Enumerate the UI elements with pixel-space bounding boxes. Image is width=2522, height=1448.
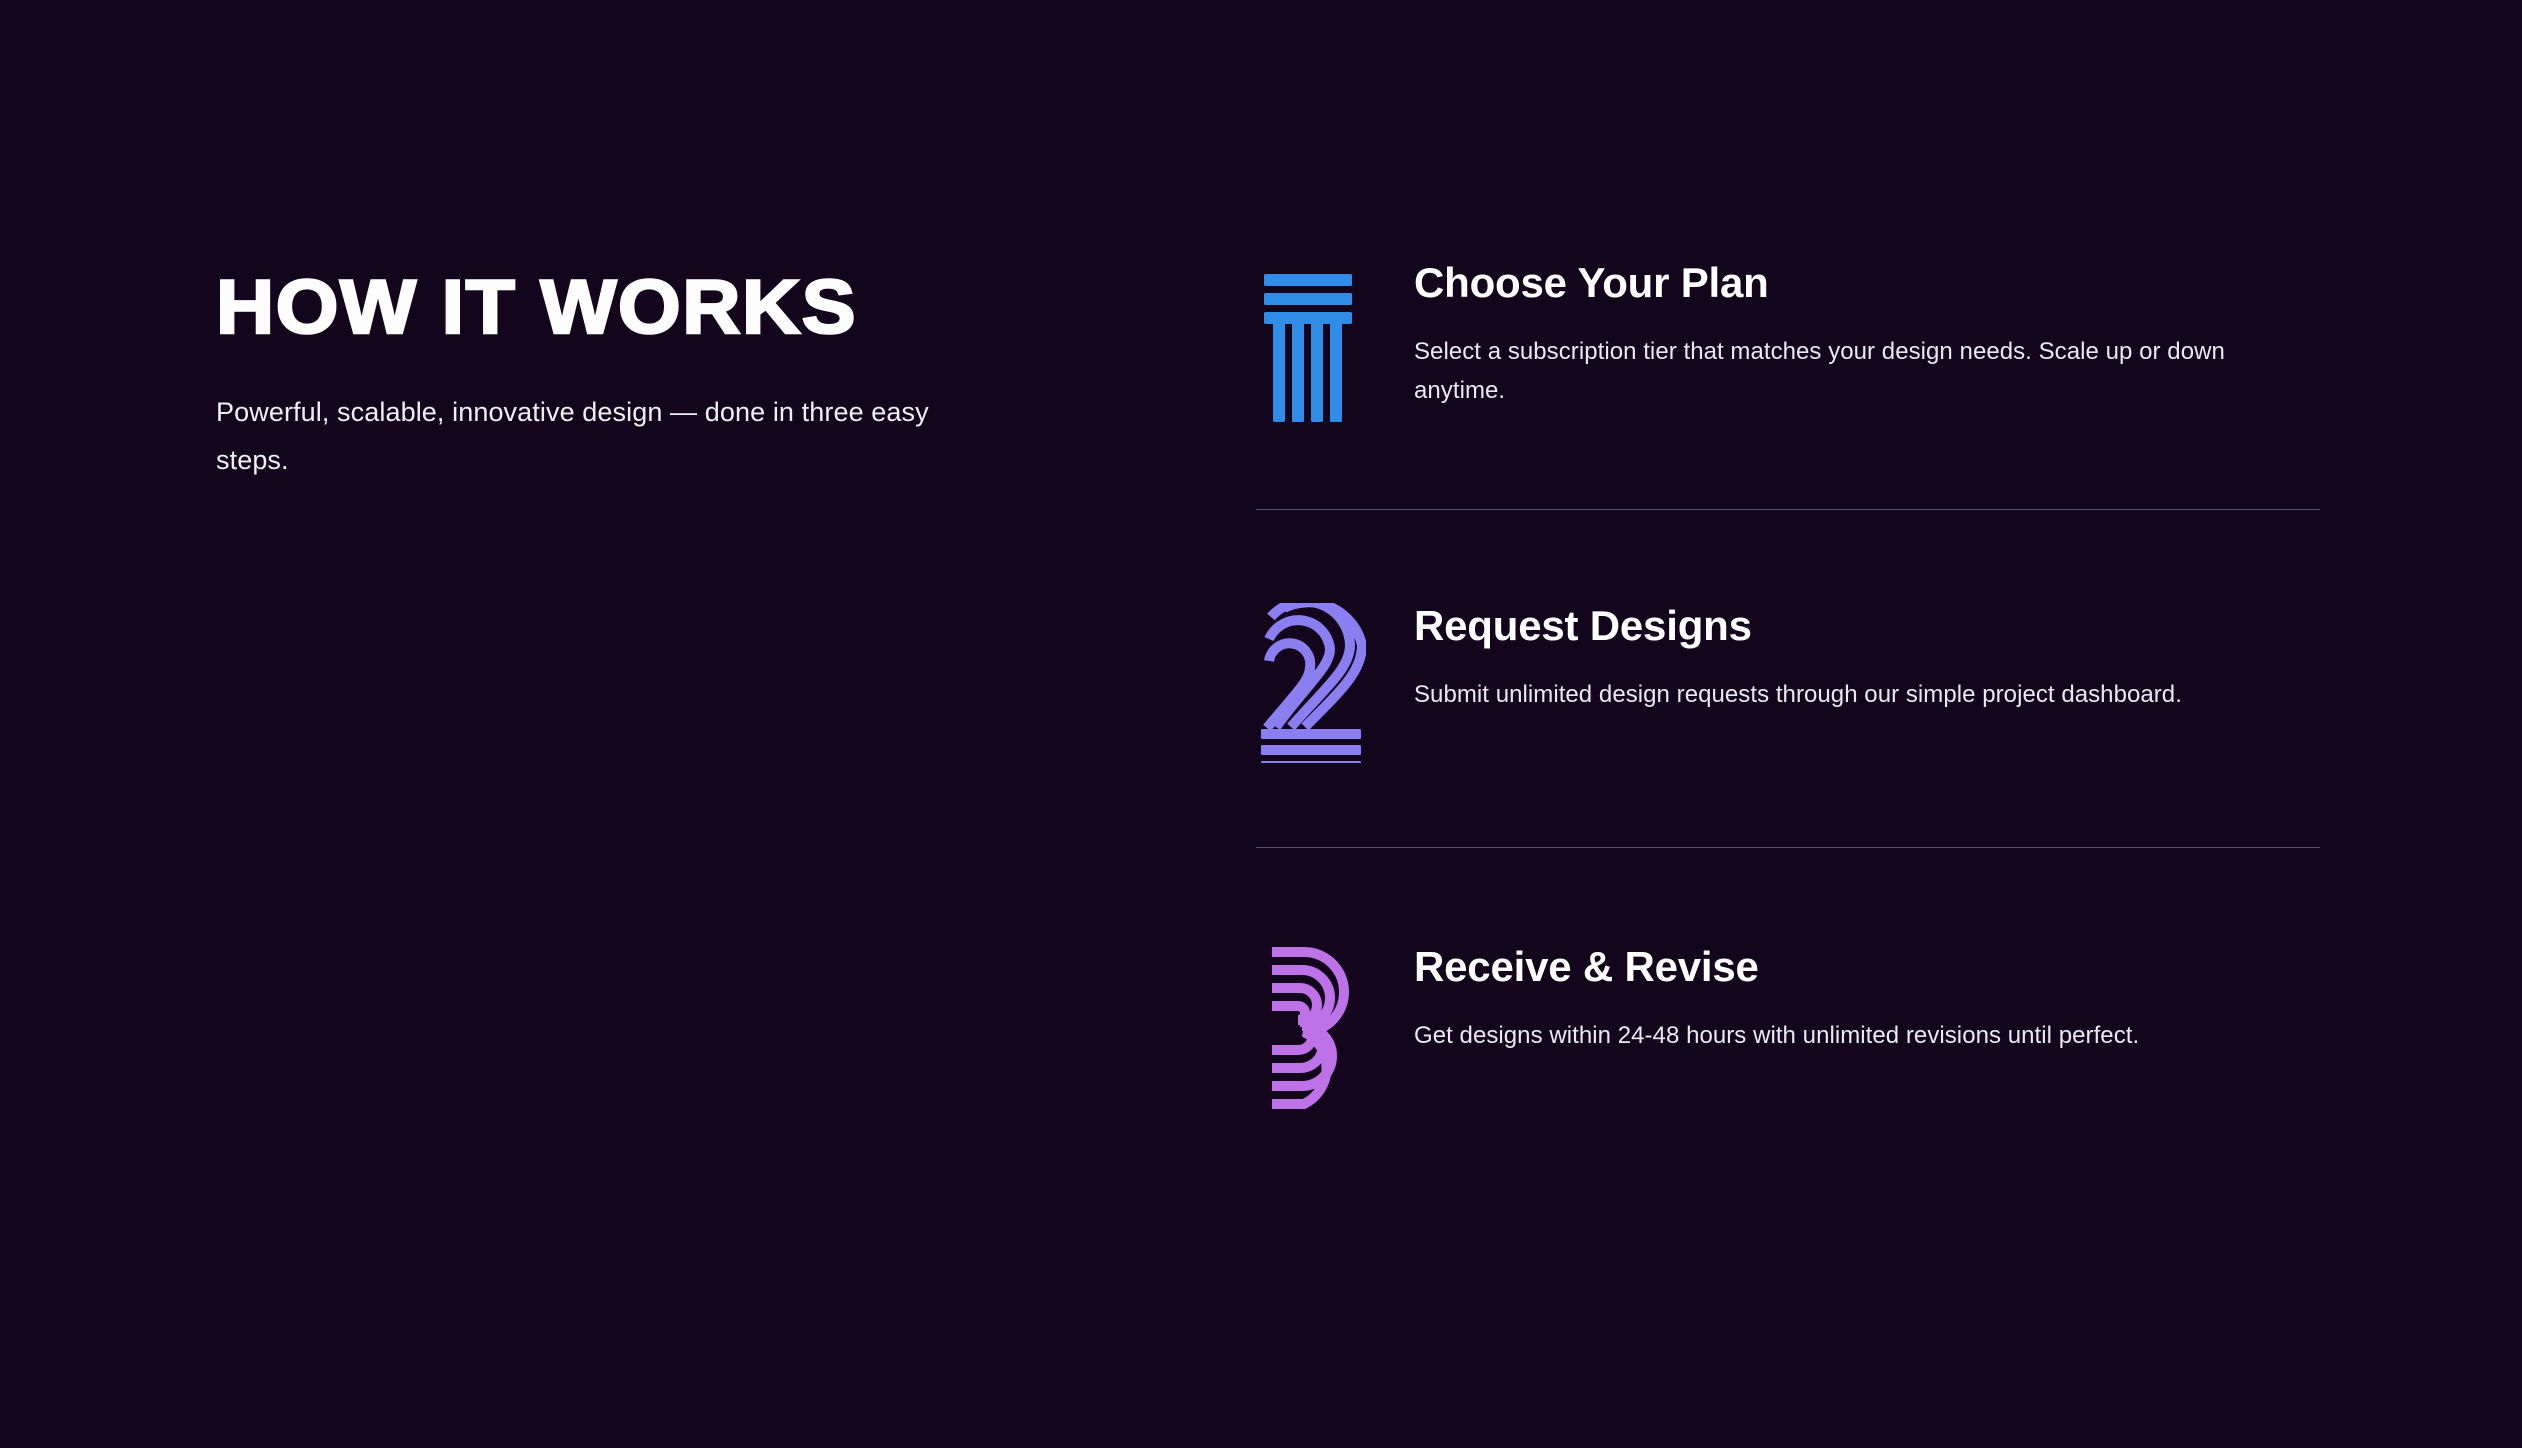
section-intro: HOW IT WORKS Powerful, scalable, innovat…	[216, 272, 1036, 484]
step-item-2[interactable]: Request Designs Submit unlimited design …	[1256, 595, 2320, 767]
number-two-striped-icon	[1256, 603, 1366, 763]
step-item-3[interactable]: Receive & Revise Get designs within 24-4…	[1256, 934, 2320, 1114]
spacer	[1256, 848, 2320, 934]
page-title: HOW IT WORKS	[216, 272, 1085, 344]
step-2-description: Submit unlimited design requests through…	[1414, 676, 2320, 715]
number-one-striped-icon	[1256, 260, 1360, 422]
spacer	[1256, 767, 2320, 847]
step-1-numeral	[1256, 260, 1381, 422]
step-3-description: Get designs within 24-48 hours with unli…	[1414, 1017, 2320, 1056]
steps-list: Choose Your Plan Select a subscription t…	[1256, 256, 2320, 1114]
step-3-heading: Receive & Revise	[1414, 944, 2320, 989]
how-it-works-section: HOW IT WORKS Powerful, scalable, innovat…	[0, 0, 2522, 1448]
step-3-numeral	[1256, 944, 1381, 1112]
number-three-striped-icon	[1256, 944, 1368, 1112]
step-2-body: Request Designs Submit unlimited design …	[1381, 603, 2320, 715]
spacer	[1256, 510, 2320, 595]
step-item-1[interactable]: Choose Your Plan Select a subscription t…	[1256, 256, 2320, 426]
step-2-heading: Request Designs	[1414, 603, 2320, 648]
section-subtitle: Powerful, scalable, innovative design — …	[216, 388, 986, 484]
step-1-heading: Choose Your Plan	[1414, 260, 2320, 305]
spacer	[1256, 426, 2320, 509]
step-3-body: Receive & Revise Get designs within 24-4…	[1381, 944, 2320, 1056]
step-1-body: Choose Your Plan Select a subscription t…	[1381, 260, 2320, 411]
step-1-description: Select a subscription tier that matches …	[1414, 333, 2320, 411]
step-2-numeral	[1256, 603, 1381, 763]
